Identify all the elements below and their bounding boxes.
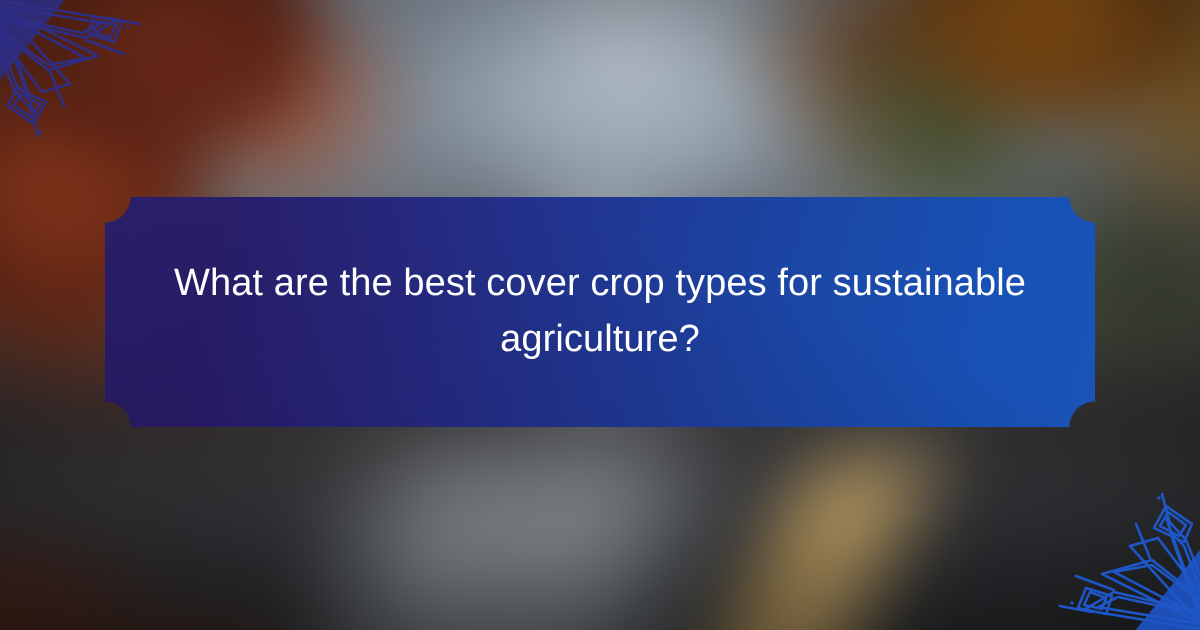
share-card-canvas: What are the best cover crop types for s… bbox=[0, 0, 1200, 630]
question-text: What are the best cover crop types for s… bbox=[105, 256, 1095, 368]
question-card: What are the best cover crop types for s… bbox=[105, 197, 1095, 427]
